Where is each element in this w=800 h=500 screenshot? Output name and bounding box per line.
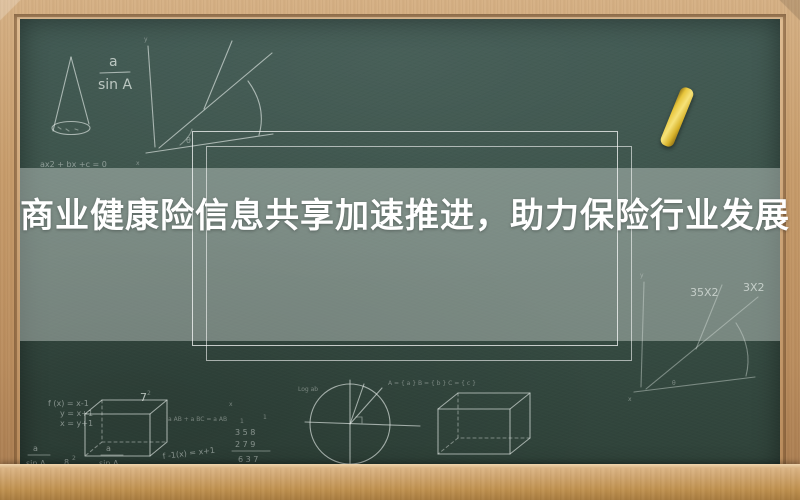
svg-text:a: a <box>33 444 38 453</box>
mult-35x2: 35X2 <box>690 286 719 299</box>
svg-text:1: 1 <box>263 414 267 421</box>
svg-text:θ: θ <box>672 380 676 387</box>
svg-text:sin A: sin A <box>98 77 133 93</box>
svg-text:2: 2 <box>147 390 151 397</box>
svg-text:a: a <box>106 444 111 453</box>
svg-text:x: x <box>628 396 632 403</box>
log-ab: Log ab <box>298 386 318 393</box>
set-notation: A = { a } B = { b } C = { c } <box>388 380 476 387</box>
cube-drawing-right <box>438 393 530 454</box>
svg-text:1: 1 <box>240 418 244 425</box>
seven-squared: 7 2 <box>140 390 151 404</box>
slate-board: a sin A ax2 + bx +c = 0 y x θ <box>20 19 780 475</box>
angle-diagram-top: y x θ <box>136 36 273 167</box>
svg-text:y: y <box>144 36 148 43</box>
svg-text:a: a <box>109 54 118 70</box>
circle-sector-drawing <box>305 380 420 467</box>
svg-text:f (x) = x-1: f (x) = x-1 <box>48 399 89 408</box>
decorative-rect-inner <box>206 146 632 361</box>
fraction-a-over-sin-a-top: a sin A <box>98 54 133 93</box>
inverse-function: f -1(x) = x+1 <box>162 446 215 461</box>
svg-text:6 3 7: 6 3 7 <box>238 455 258 464</box>
svg-text:θ: θ <box>186 136 191 145</box>
mult-3x2: 3X2 <box>743 281 765 294</box>
chalk-ledge-lip <box>0 464 800 468</box>
chalk-artwork-layer: a sin A ax2 + bx +c = 0 y x θ <box>20 19 780 475</box>
svg-text:y: y <box>640 272 644 279</box>
svg-text:x = y+1: x = y+1 <box>60 419 93 428</box>
function-equations: f (x) = x-1 y = x+1 x = y+1 <box>48 399 93 428</box>
columnar-addition: 1 1 3 5 8 2 7 9 6 3 7 x <box>229 401 270 464</box>
svg-text:x: x <box>229 401 233 408</box>
segment-note: a AB + a BC = a AB <box>168 416 227 423</box>
svg-text:x: x <box>136 160 140 167</box>
chalk-ledge <box>0 464 800 500</box>
svg-text:y = x+1: y = x+1 <box>60 409 93 418</box>
svg-text:3 5 8: 3 5 8 <box>235 428 255 437</box>
svg-text:2 7 9: 2 7 9 <box>235 440 255 449</box>
page-title: 商业健康险信息共享加速推进，助力保险行业发展 <box>20 190 800 242</box>
angle-diagram-right: y x θ <box>628 272 758 403</box>
svg-text:2: 2 <box>72 455 76 462</box>
chalkboard-title-card: a sin A ax2 + bx +c = 0 y x θ <box>0 0 800 500</box>
quadratic-equation: ax2 + bx +c = 0 <box>40 160 107 169</box>
cone-drawing <box>52 57 90 135</box>
cube-drawing-left <box>85 400 167 456</box>
slate-texture <box>20 19 780 475</box>
svg-text:7: 7 <box>140 391 147 404</box>
